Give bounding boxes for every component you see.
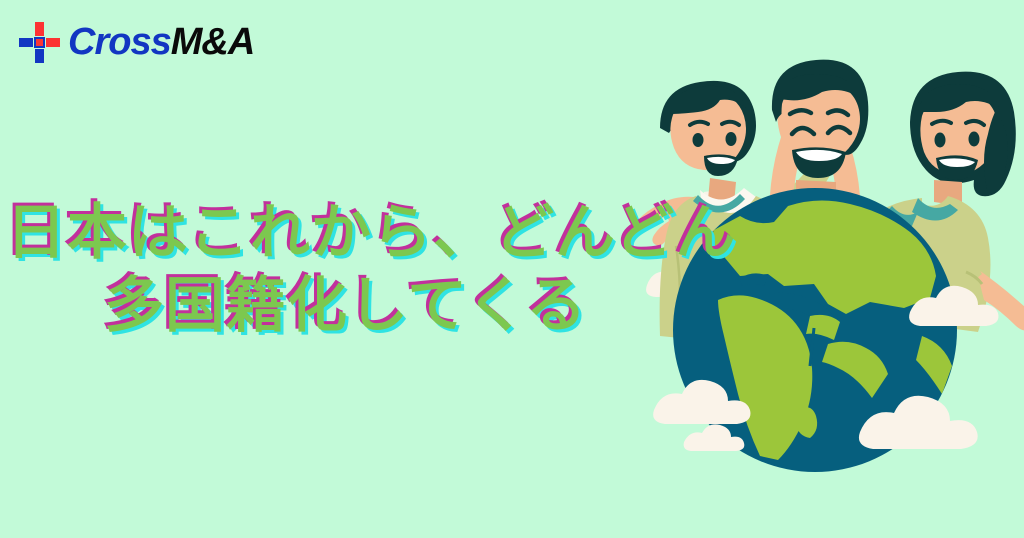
headline-line-2: 多国籍化してくる bbox=[0, 269, 720, 342]
brand-logo[interactable]: CrossM&A bbox=[18, 18, 254, 66]
banner-canvas: CrossM&A 日本はこれから、どんどん 多国籍化してくる bbox=[0, 0, 1024, 538]
brand-wordmark: CrossM&A bbox=[68, 23, 254, 61]
brand-name-primary: Cross bbox=[68, 21, 171, 63]
logo-mark-right-bar bbox=[46, 38, 60, 47]
logo-mark-center-square bbox=[34, 37, 45, 48]
headline-line-1: 日本はこれから、どんどん bbox=[0, 196, 720, 269]
logo-mark-bottom-bar bbox=[35, 49, 44, 63]
person-right-eye-left bbox=[935, 133, 946, 148]
brand-name-secondary: M&A bbox=[171, 21, 255, 63]
headline-text: 日本はこれから、どんどん 多国籍化してくる bbox=[0, 196, 720, 342]
person-right-eye-right bbox=[969, 132, 980, 147]
logo-mark-top-bar bbox=[35, 22, 44, 36]
cross-plus-logo-icon bbox=[18, 21, 60, 63]
person-left-eye-right bbox=[726, 132, 737, 146]
person-left-eye-left bbox=[693, 133, 704, 147]
logo-mark-left-bar bbox=[19, 38, 33, 47]
